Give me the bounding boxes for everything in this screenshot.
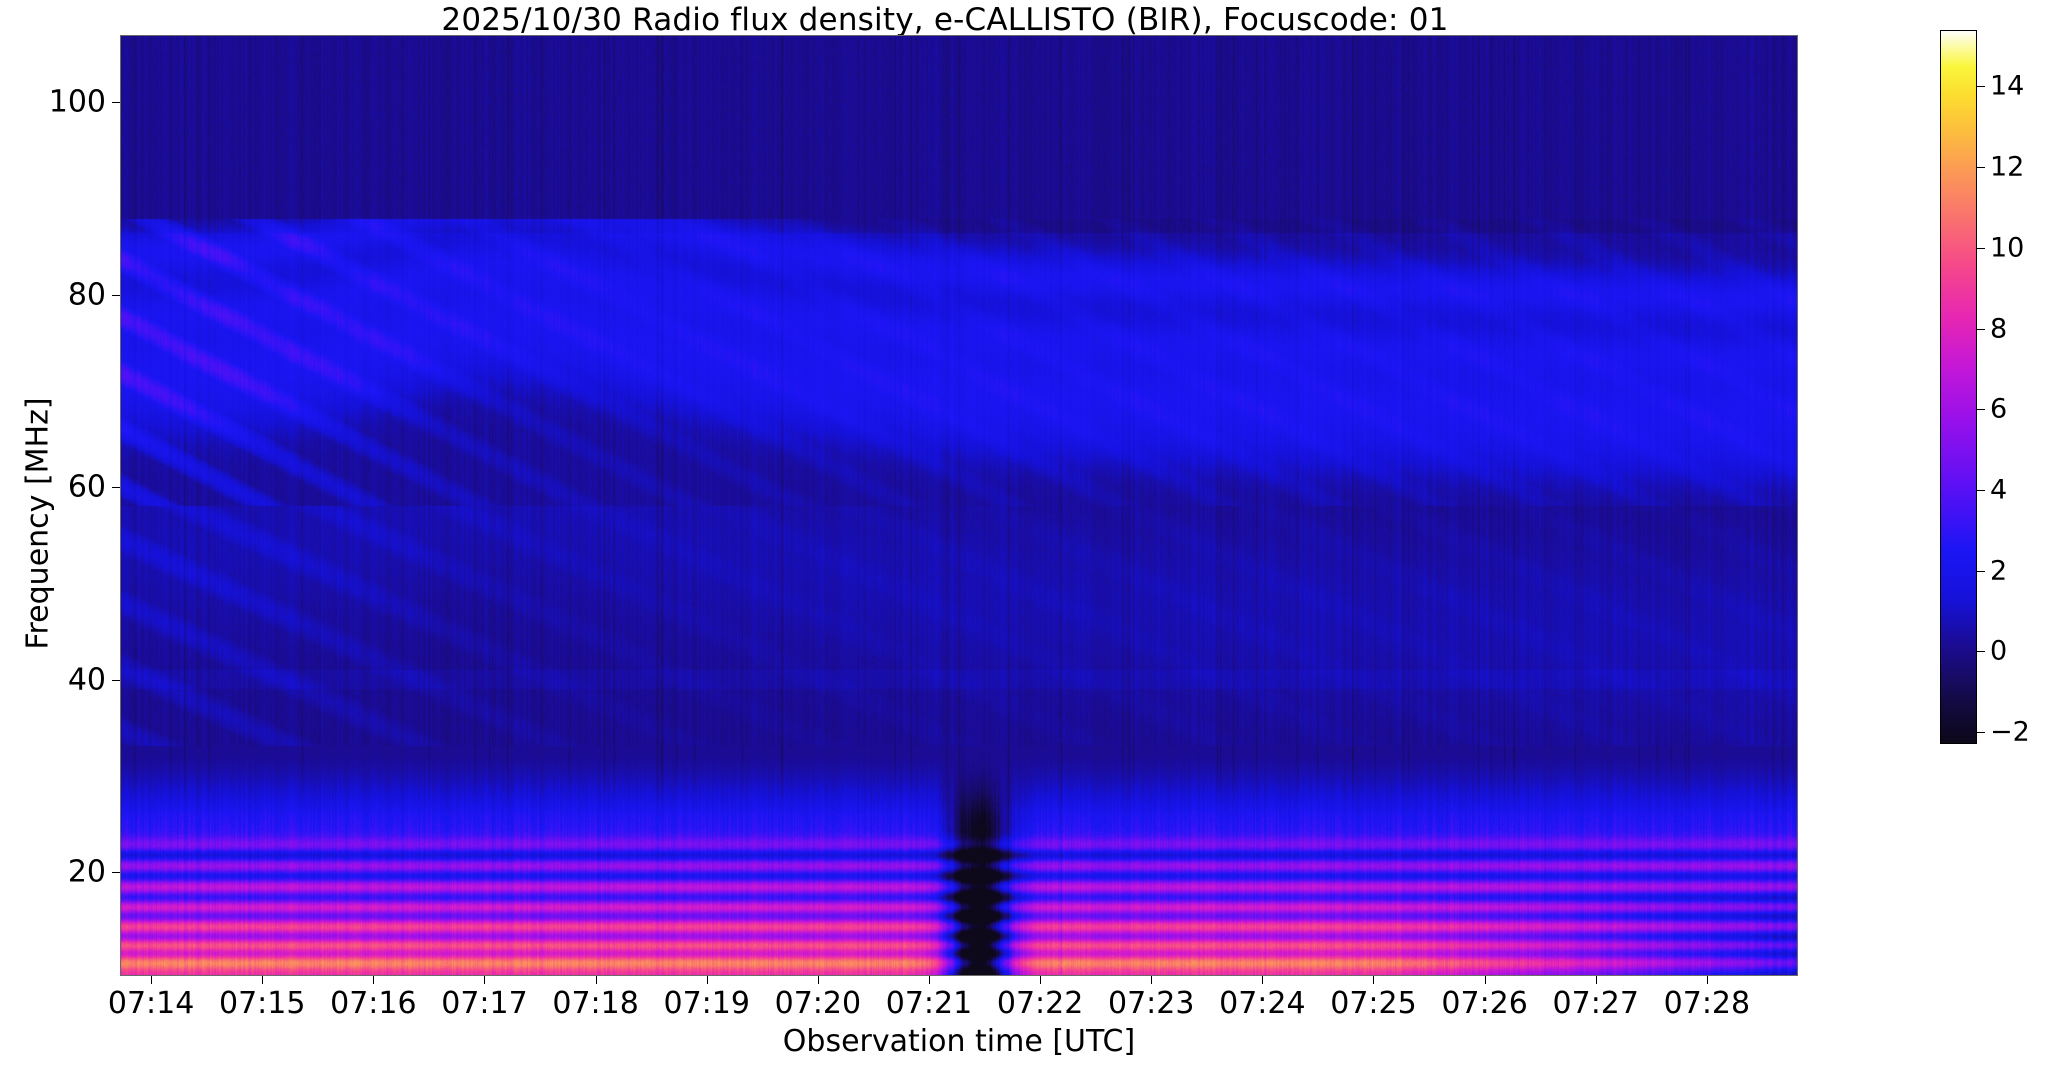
y-tick-label: 80 — [68, 277, 106, 312]
colorbar-tick-label: 6 — [1990, 394, 2007, 425]
x-tick-mark — [1151, 976, 1152, 984]
colorbar-tick-label: 14 — [1990, 71, 2024, 102]
y-tick-mark — [112, 872, 120, 873]
y-tick-label: 40 — [68, 662, 106, 697]
x-tick-mark — [1262, 976, 1263, 984]
x-tick-mark — [818, 976, 819, 984]
colorbar-tick-mark — [1977, 651, 1985, 652]
x-tick-label: 07:16 — [330, 986, 416, 1021]
colorbar-tick-label: −2 — [1990, 716, 2030, 747]
x-tick-mark — [929, 976, 930, 984]
colorbar-tick-mark — [1977, 329, 1985, 330]
x-tick-mark — [596, 976, 597, 984]
x-tick-label: 07:22 — [997, 986, 1083, 1021]
colorbar-tick-label: 0 — [1990, 636, 2007, 667]
colorbar-tick-label: 4 — [1990, 474, 2007, 505]
colorbar-tick-mark — [1977, 409, 1985, 410]
x-tick-mark — [151, 976, 152, 984]
y-tick-mark — [112, 487, 120, 488]
x-tick-mark — [262, 976, 263, 984]
x-tick-label: 07:15 — [219, 986, 305, 1021]
colorbar-tick-label: 8 — [1990, 313, 2007, 344]
colorbar-tick-mark — [1977, 490, 1985, 491]
spectrogram-plot-area[interactable] — [120, 35, 1798, 976]
y-tick-mark — [112, 680, 120, 681]
y-tick-mark — [112, 295, 120, 296]
x-tick-label: 07:28 — [1664, 986, 1750, 1021]
x-tick-mark — [373, 976, 374, 984]
x-axis-label: Observation time [UTC] — [120, 1024, 1798, 1059]
x-tick-mark — [484, 976, 485, 984]
x-tick-label: 07:20 — [775, 986, 861, 1021]
colorbar-tick-label: 12 — [1990, 152, 2024, 183]
x-tick-label: 07:25 — [1330, 986, 1416, 1021]
colorbar-tick-mark — [1977, 86, 1985, 87]
y-tick-mark — [112, 102, 120, 103]
colorbar-tick-mark — [1977, 571, 1985, 572]
x-tick-label: 07:24 — [1219, 986, 1305, 1021]
figure-canvas: 2025/10/30 Radio flux density, e-CALLIST… — [0, 0, 2066, 1067]
x-tick-label: 07:14 — [108, 986, 194, 1021]
colorbar[interactable] — [1940, 30, 1977, 744]
colorbar-gradient — [1941, 31, 1976, 743]
colorbar-tick-mark — [1977, 732, 1985, 733]
y-tick-label: 100 — [49, 85, 106, 120]
x-tick-mark — [1485, 976, 1486, 984]
x-tick-mark — [1373, 976, 1374, 984]
x-tick-label: 07:26 — [1441, 986, 1527, 1021]
x-tick-label: 07:21 — [886, 986, 972, 1021]
x-tick-mark — [1040, 976, 1041, 984]
colorbar-tick-label: 10 — [1990, 232, 2024, 263]
spectrogram-image — [121, 36, 1797, 975]
colorbar-tick-mark — [1977, 248, 1985, 249]
y-tick-label: 60 — [68, 470, 106, 505]
colorbar-tick-mark — [1977, 167, 1985, 168]
x-tick-mark — [1707, 976, 1708, 984]
x-tick-mark — [1596, 976, 1597, 984]
x-tick-mark — [707, 976, 708, 984]
page-title: 2025/10/30 Radio flux density, e-CALLIST… — [0, 2, 1890, 38]
y-axis-label: Frequency [MHz] — [21, 314, 56, 734]
y-tick-label: 20 — [68, 855, 106, 890]
x-tick-label: 07:17 — [441, 986, 527, 1021]
x-tick-label: 07:23 — [1108, 986, 1194, 1021]
colorbar-tick-label: 2 — [1990, 555, 2007, 586]
x-tick-label: 07:27 — [1553, 986, 1639, 1021]
x-tick-label: 07:19 — [664, 986, 750, 1021]
x-tick-label: 07:18 — [552, 986, 638, 1021]
